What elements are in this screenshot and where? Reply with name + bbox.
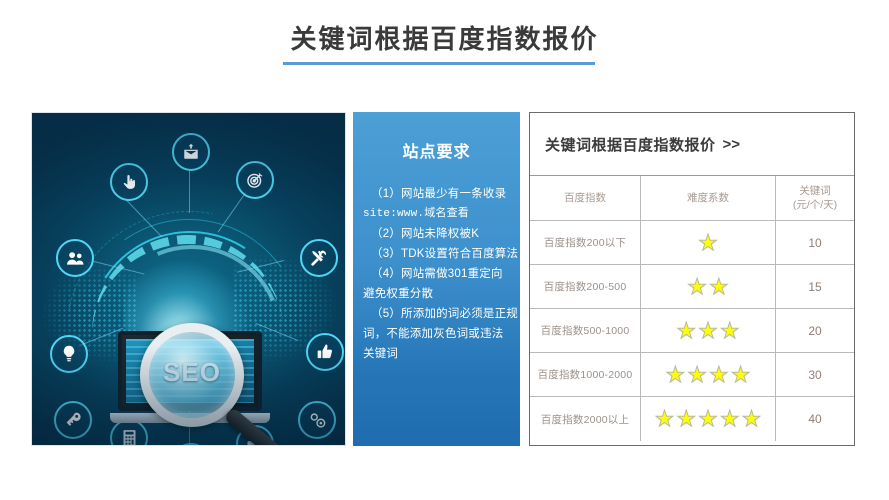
price-table-column-header-row: 百度指数 难度系数 关键词 (元/个/天) [530,176,854,221]
table-row: 百度指数200以下 ★ 10 [530,221,854,265]
star-rating: ★★★★★ [655,408,762,430]
page-title: 关键词根据百度指数报价 [290,22,598,56]
star-rating: ★★★★ [666,364,751,386]
cell-difficulty-stars: ★★ [641,265,776,308]
star-icon: ★ [709,276,729,298]
requirement-line: （3）TDK设置符合百度算法 [363,244,510,264]
cell-price: 15 [776,265,854,308]
star-icon: ★ [687,364,707,386]
price-table-header: 关键词根据百度指数报价 >> [530,113,854,176]
star-icon: ★ [731,364,751,386]
requirement-line: 避免权重分散 [363,284,510,304]
requirement-line: （2）网站未降权被K [363,224,510,244]
requirement-line: site:www.域名查看 [363,204,510,224]
requirement-line: （4）网站需做301重定向 [363,264,510,284]
title-underline-rule [283,62,595,65]
star-icon: ★ [720,408,740,430]
cell-index-range: 百度指数2000以上 [530,397,641,441]
hero-vignette [32,113,345,445]
star-icon: ★ [655,408,675,430]
star-rating: ★★★ [676,320,739,342]
star-icon: ★ [676,320,696,342]
column-header-price-label: 关键词 (元/个/天) [793,184,837,212]
cell-index-range: 百度指数200-500 [530,265,641,308]
star-icon: ★ [687,276,707,298]
cell-price: 30 [776,353,854,396]
cell-index-range: 百度指数200以下 [530,221,641,264]
table-row: 百度指数2000以上 ★★★★★ 40 [530,397,854,441]
star-icon: ★ [698,232,718,254]
column-header-price-line2: (元/个/天) [793,199,837,211]
column-header-difficulty: 难度系数 [641,176,776,220]
price-table-title: 关键词根据百度指数报价 [545,134,716,155]
site-requirements-panel: 站点要求 （1）网站最少有一条收录 site:www.域名查看 （2）网站未降权… [353,112,520,446]
requirement-line: 词，不能添加灰色词或违法 [363,324,510,344]
column-header-price: 关键词 (元/个/天) [776,176,854,220]
table-row: 百度指数500-1000 ★★★ 20 [530,309,854,353]
star-rating: ★ [698,232,718,254]
cell-index-range: 百度指数1000-2000 [530,353,641,396]
star-icon: ★ [698,408,718,430]
page-title-container: 关键词根据百度指数报价 [0,22,889,56]
cell-price: 10 [776,221,854,264]
column-header-difficulty-label: 难度系数 [687,191,729,205]
star-icon: ★ [698,320,718,342]
cell-price: 20 [776,309,854,352]
star-icon: ★ [709,364,729,386]
column-header-index-label: 百度指数 [564,191,606,205]
requirements-list: （1）网站最少有一条收录 site:www.域名查看 （2）网站未降权被K （3… [363,184,510,364]
cell-index-range: 百度指数500-1000 [530,309,641,352]
requirement-line: 关键词 [363,344,510,364]
star-icon: ★ [666,364,686,386]
column-header-index: 百度指数 [530,176,641,220]
column-header-price-line1: 关键词 [799,185,831,197]
requirement-line: （1）网站最少有一条收录 [363,184,510,204]
star-icon: ★ [742,408,762,430]
star-rating: ★★ [687,276,728,298]
table-row: 百度指数200-500 ★★ 15 [530,265,854,309]
seo-illustration-panel: SEO [31,112,346,446]
cell-price: 40 [776,397,854,441]
cell-difficulty-stars: ★★★ [641,309,776,352]
cell-difficulty-stars: ★ [641,221,776,264]
double-chevron-right-icon: >> [723,136,741,153]
star-icon: ★ [676,408,696,430]
cell-difficulty-stars: ★★★★★ [641,397,776,441]
price-table: 关键词根据百度指数报价 >> 百度指数 难度系数 关键词 (元/个/天) 百度指… [529,112,855,446]
cell-difficulty-stars: ★★★★ [641,353,776,396]
table-row: 百度指数1000-2000 ★★★★ 30 [530,353,854,397]
requirement-line: （5）所添加的词必须是正规 [363,304,510,324]
star-icon: ★ [720,320,740,342]
requirements-heading: 站点要求 [363,138,510,162]
